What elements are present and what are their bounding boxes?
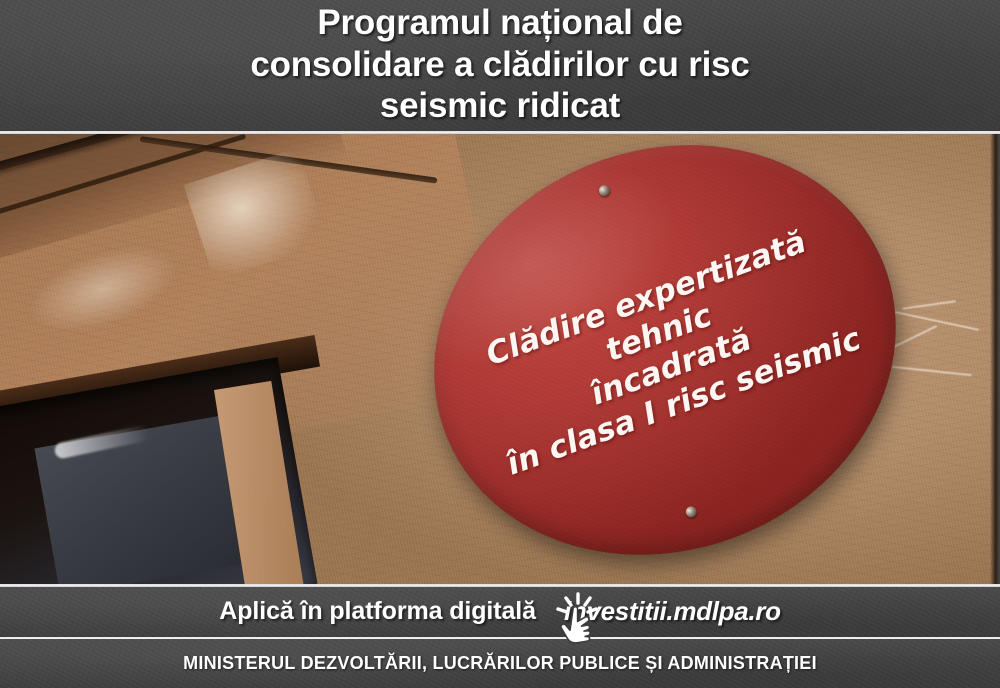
page-title: Programul național de consolidare a clăd… [250, 2, 749, 129]
poster: Programul național de consolidare a clăd… [0, 0, 1000, 688]
ministry-name: MINISTERUL DEZVOLTĂRII, LUCRĂRILOR PUBLI… [183, 653, 817, 674]
platform-url-link[interactable]: investitii.mdlpa.ro [564, 596, 781, 627]
ministry-band: MINISTERUL DEZVOLTĂRII, LUCRĂRILOR PUBLI… [0, 639, 1000, 688]
photo-right-edge [990, 134, 1000, 584]
plaque-text: Clădire expertizată tehnic încadrată în … [433, 206, 897, 494]
cta-label: Aplică în platforma digitală [219, 597, 536, 626]
divider-middle [0, 584, 1000, 587]
header-band: Programul național de consolidare a clăd… [0, 0, 1000, 131]
cta-band: Aplică în platforma digitală investitii.… [0, 587, 1000, 637]
cta-inner: Aplică în platforma digitală investitii.… [219, 596, 781, 627]
hero-photo: Clădire expertizată tehnic încadrată în … [0, 134, 1000, 584]
divider-top [0, 131, 1000, 134]
divider-bottom [0, 637, 1000, 639]
